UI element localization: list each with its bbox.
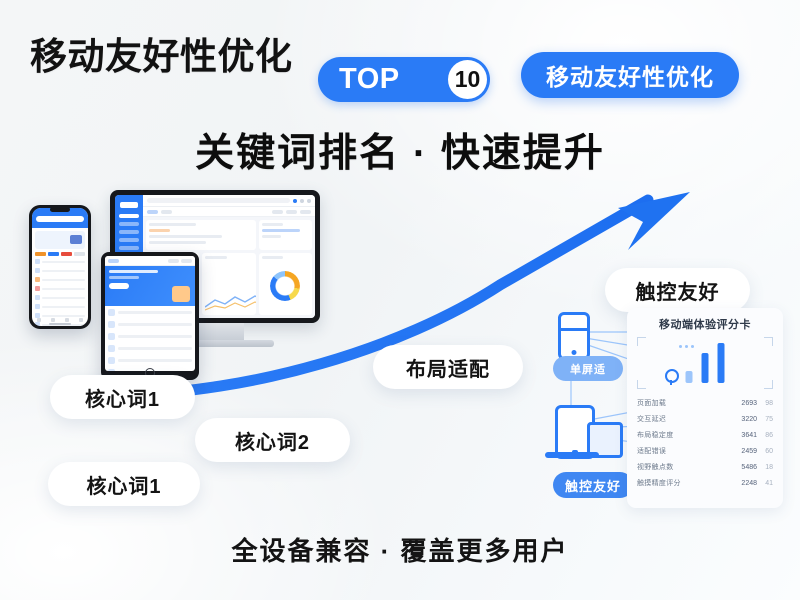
keyword-pill-3[interactable]: 核心词1 [48,462,200,506]
diagram-tag-touch-friendly: 触控友好 [553,472,633,498]
score-card-rows: 页面加载 2693 98 交互延迟 3220 75 布局稳定度 3641 86 … [637,395,773,491]
row-value: 5486 [731,464,757,471]
row-value: 3220 [731,416,757,423]
mini-device-base [545,452,599,458]
header-tag-pill: 移动友好性优化 [521,52,739,98]
row-delta: 41 [757,480,773,487]
keyword-pill-2[interactable]: 核心词2 [195,418,350,462]
phone-mockup [29,205,91,329]
footer-tagline: 全设备兼容 · 覆盖更多用户 [0,531,800,568]
score-card-title: 移动端体验评分卡 [637,316,773,332]
donut-chart [259,253,312,315]
row-name: 布局稳定度 [637,430,731,440]
row-delta: 75 [757,416,773,423]
row-delta: 60 [757,448,773,455]
row-name: 触摸精度评分 [637,478,731,488]
page-title: 移动友好性优化 [30,26,293,80]
table-row: 适配错误 2459 60 [637,443,773,459]
device-mockups [25,190,345,390]
table-row: 触摸精度评分 2248 41 [637,475,773,491]
row-delta: 98 [757,400,773,407]
top-10-badge: TOP 10 [318,57,490,102]
row-name: 页面加载 [637,398,731,408]
diagram-tag-single-screen: 单屏适 [553,356,623,381]
score-card: 移动端体验评分卡 页面加载 2693 98 交互延 [627,308,783,508]
row-delta: 86 [757,432,773,439]
keyword-pill-1[interactable]: 核心词1 [50,375,195,419]
mini-phone-icon [558,312,590,360]
row-name: 视野触点数 [637,462,731,472]
row-value: 2459 [731,448,757,455]
row-value: 2248 [731,480,757,487]
table-row: 页面加载 2693 98 [637,395,773,411]
banner-canvas: 移动友好性优化 TOP 10 移动友好性优化 关键词排名 · 快速提升 [0,0,800,600]
table-row: 布局稳定度 3641 86 [637,427,773,443]
score-card-chart [637,337,773,389]
table-row: 交互延迟 3220 75 [637,411,773,427]
bar-series [686,343,725,383]
tablet-mockup [101,252,199,380]
mobile-experience-diagram: 单屏适 触控友好 移动端体验评分卡 页面加载 2693 [545,300,790,515]
layout-adaptation-pill[interactable]: 布局适配 [373,345,523,389]
row-delta: 18 [757,464,773,471]
row-name: 交互延迟 [637,414,731,424]
row-name: 适配错误 [637,446,731,456]
row-value: 3641 [731,432,757,439]
location-pin-icon [665,369,679,383]
table-row: 视野触点数 5486 18 [637,459,773,475]
row-value: 2693 [731,400,757,407]
top-badge-word: TOP [339,63,400,96]
top-badge-number: 10 [448,60,487,99]
